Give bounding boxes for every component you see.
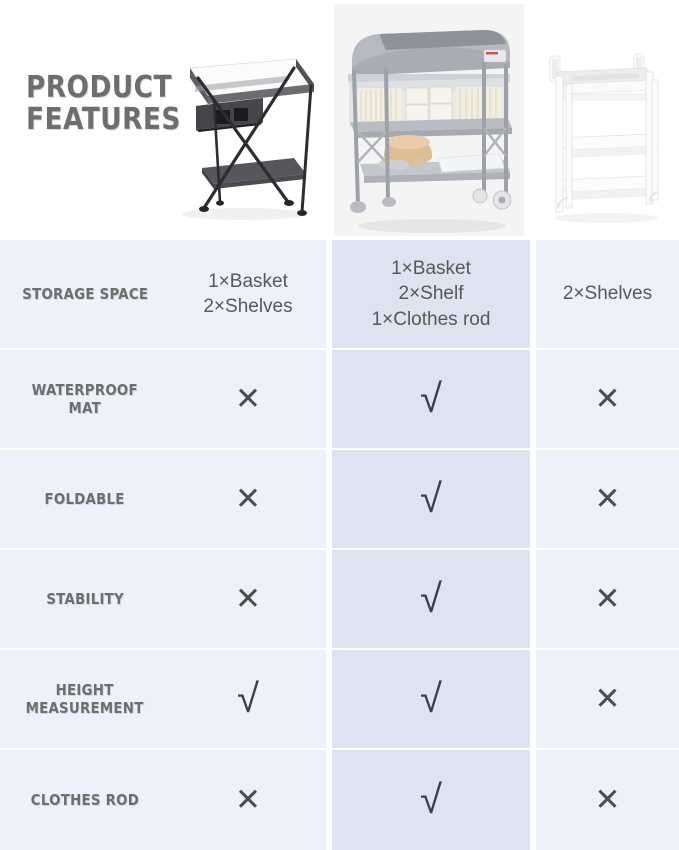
product-image-gray-folding-changing-table	[334, 4, 524, 236]
value-cell-product-1: 1×Basket2×Shelves	[170, 240, 326, 350]
value-cell-product-3: 2×Shelves	[536, 240, 679, 350]
check-icon: √	[420, 479, 442, 519]
cross-icon: ✕	[235, 785, 261, 816]
cross-icon: ✕	[235, 384, 261, 415]
value-cell-product-2: √	[332, 650, 530, 750]
row-label: STORAGE SPACE	[22, 285, 148, 303]
page-title-line1: PRODUCT	[26, 72, 181, 104]
table-row: FOLDABLE ✕ √ ✕	[0, 450, 679, 550]
third-product-cell	[530, 0, 679, 240]
row-label-cell: WATERPROOFMAT	[0, 350, 170, 450]
spec-value: 1×Basket2×Shelf1×Clothes rod	[372, 256, 491, 331]
cross-icon: ✕	[595, 584, 621, 615]
value-cell-product-3: ✕	[536, 450, 679, 550]
row-label: HEIGHTMEASUREMENT	[26, 681, 144, 718]
value-cell-product-2: √	[332, 750, 530, 850]
check-icon: √	[237, 679, 259, 719]
table-row: STABILITY ✕ √ ✕	[0, 550, 679, 650]
product-image-white-wooden-changing-table	[542, 20, 670, 226]
row-label-cell: CLOTHES ROD	[0, 750, 170, 850]
value-cell-product-2: √	[332, 350, 530, 450]
value-cell-product-1: ✕	[170, 550, 326, 650]
table-row: WATERPROOFMAT ✕ √ ✕	[0, 350, 679, 450]
page-title-line2: FEATURES	[26, 104, 181, 136]
value-cell-product-2: √	[332, 550, 530, 650]
value-cell-product-2: √	[332, 450, 530, 550]
check-icon: √	[420, 780, 442, 820]
check-icon: √	[420, 679, 442, 719]
table-row: STORAGE SPACE 1×Basket2×Shelves 1×Basket…	[0, 240, 679, 350]
cross-icon: ✕	[235, 584, 261, 615]
value-cell-product-1: √	[170, 650, 326, 750]
title-cell: PRODUCT FEATURES	[0, 0, 326, 240]
value-cell-product-3: ✕	[536, 650, 679, 750]
value-cell-product-1: ✕	[170, 350, 326, 450]
cross-icon: ✕	[595, 785, 621, 816]
spec-value: 2×Shelves	[563, 281, 652, 306]
value-cell-product-3: ✕	[536, 350, 679, 450]
value-cell-product-2: 1×Basket2×Shelf1×Clothes rod	[332, 240, 530, 350]
value-cell-product-1: ✕	[170, 750, 326, 850]
table-row: HEIGHTMEASUREMENT √ √ ✕	[0, 650, 679, 750]
spec-value: 1×Basket2×Shelves	[203, 269, 292, 319]
featured-product-cell	[326, 0, 530, 240]
row-label: WATERPROOFMAT	[32, 381, 138, 418]
product-features-comparison-sheet: PRODUCT FEATURES	[0, 0, 679, 849]
table-row: CLOTHES ROD ✕ √ ✕	[0, 750, 679, 850]
cross-icon: ✕	[235, 484, 261, 515]
cross-icon: ✕	[595, 684, 621, 715]
cross-icon: ✕	[595, 384, 621, 415]
value-cell-product-3: ✕	[536, 550, 679, 650]
row-label: STABILITY	[46, 590, 124, 608]
comparison-table: STORAGE SPACE 1×Basket2×Shelves 1×Basket…	[0, 240, 679, 850]
value-cell-product-1: ✕	[170, 450, 326, 550]
row-label-cell: STABILITY	[0, 550, 170, 650]
page-title: PRODUCT FEATURES	[26, 72, 181, 135]
row-label-cell: STORAGE SPACE	[0, 240, 170, 350]
row-label-cell: FOLDABLE	[0, 450, 170, 550]
product-image-black-folding-changing-table	[168, 26, 318, 222]
header-strip: PRODUCT FEATURES	[0, 0, 679, 240]
row-label: FOLDABLE	[45, 490, 125, 508]
row-label-cell: HEIGHTMEASUREMENT	[0, 650, 170, 750]
row-label: CLOTHES ROD	[31, 791, 139, 809]
check-icon: √	[420, 379, 442, 419]
value-cell-product-3: ✕	[536, 750, 679, 850]
cross-icon: ✕	[595, 484, 621, 515]
check-icon: √	[420, 579, 442, 619]
